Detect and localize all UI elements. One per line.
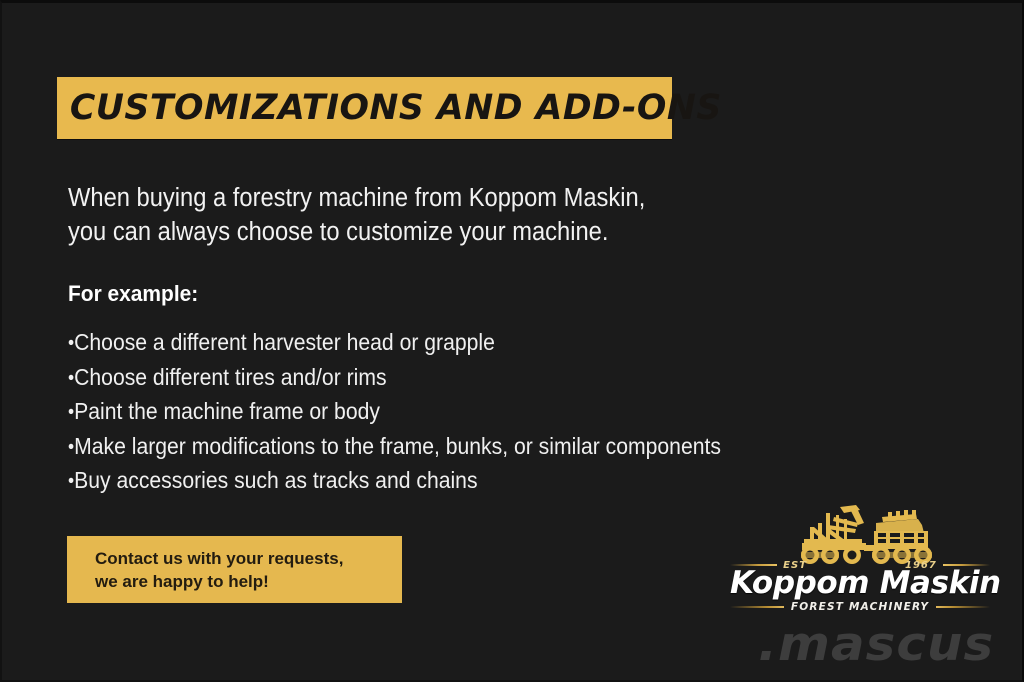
intro-line-1: When buying a forestry machine from Kopp… [68, 181, 756, 215]
list-item-label: Buy accessories such as tracks and chain… [74, 467, 477, 493]
list-item-label: Choose a different harvester head or gra… [74, 329, 495, 355]
list-item-label: Paint the machine frame or body [74, 398, 380, 424]
list-item: •Make larger modifications to the frame,… [68, 429, 721, 464]
page-title: CUSTOMIZATIONS AND ADD-ONS [57, 88, 722, 128]
list-item-label: Choose different tires and/or rims [74, 364, 386, 390]
list-item: •Choose different tires and/or rims [68, 360, 721, 395]
brand-tagline: FOREST MACHINERY [791, 601, 929, 613]
contact-line-1: Contact us with your requests, [95, 547, 402, 570]
list-item: •Choose a different harvester head or gr… [68, 325, 721, 360]
intro-line-2: you can always choose to customize your … [68, 215, 756, 249]
customization-list: •Choose a different harvester head or gr… [68, 325, 721, 498]
koppom-maskin-logo: EST 1967 Koppom Maskin FOREST MACHINERY [730, 503, 990, 615]
for-example-label: For example: [68, 281, 198, 307]
contact-line-2: we are happy to help! [95, 570, 402, 593]
advertisement-slide: CUSTOMIZATIONS AND ADD-ONS When buying a… [0, 0, 1024, 682]
tagline-rule-right [936, 606, 990, 608]
tagline-rule-left [730, 606, 784, 608]
intro-paragraph: When buying a forestry machine from Kopp… [68, 181, 756, 249]
list-item-label: Make larger modifications to the frame, … [74, 433, 721, 459]
list-item: •Paint the machine frame or body [68, 394, 721, 429]
contact-callout-box[interactable]: Contact us with your requests, we are ha… [67, 536, 402, 603]
tagline-row: FOREST MACHINERY [730, 601, 990, 613]
mascus-watermark: .mascus [758, 617, 994, 672]
list-item: •Buy accessories such as tracks and chai… [68, 463, 721, 498]
forestry-forwarder-icon [778, 503, 946, 565]
title-banner: CUSTOMIZATIONS AND ADD-ONS [57, 77, 672, 139]
brand-name: Koppom Maskin [730, 565, 990, 601]
